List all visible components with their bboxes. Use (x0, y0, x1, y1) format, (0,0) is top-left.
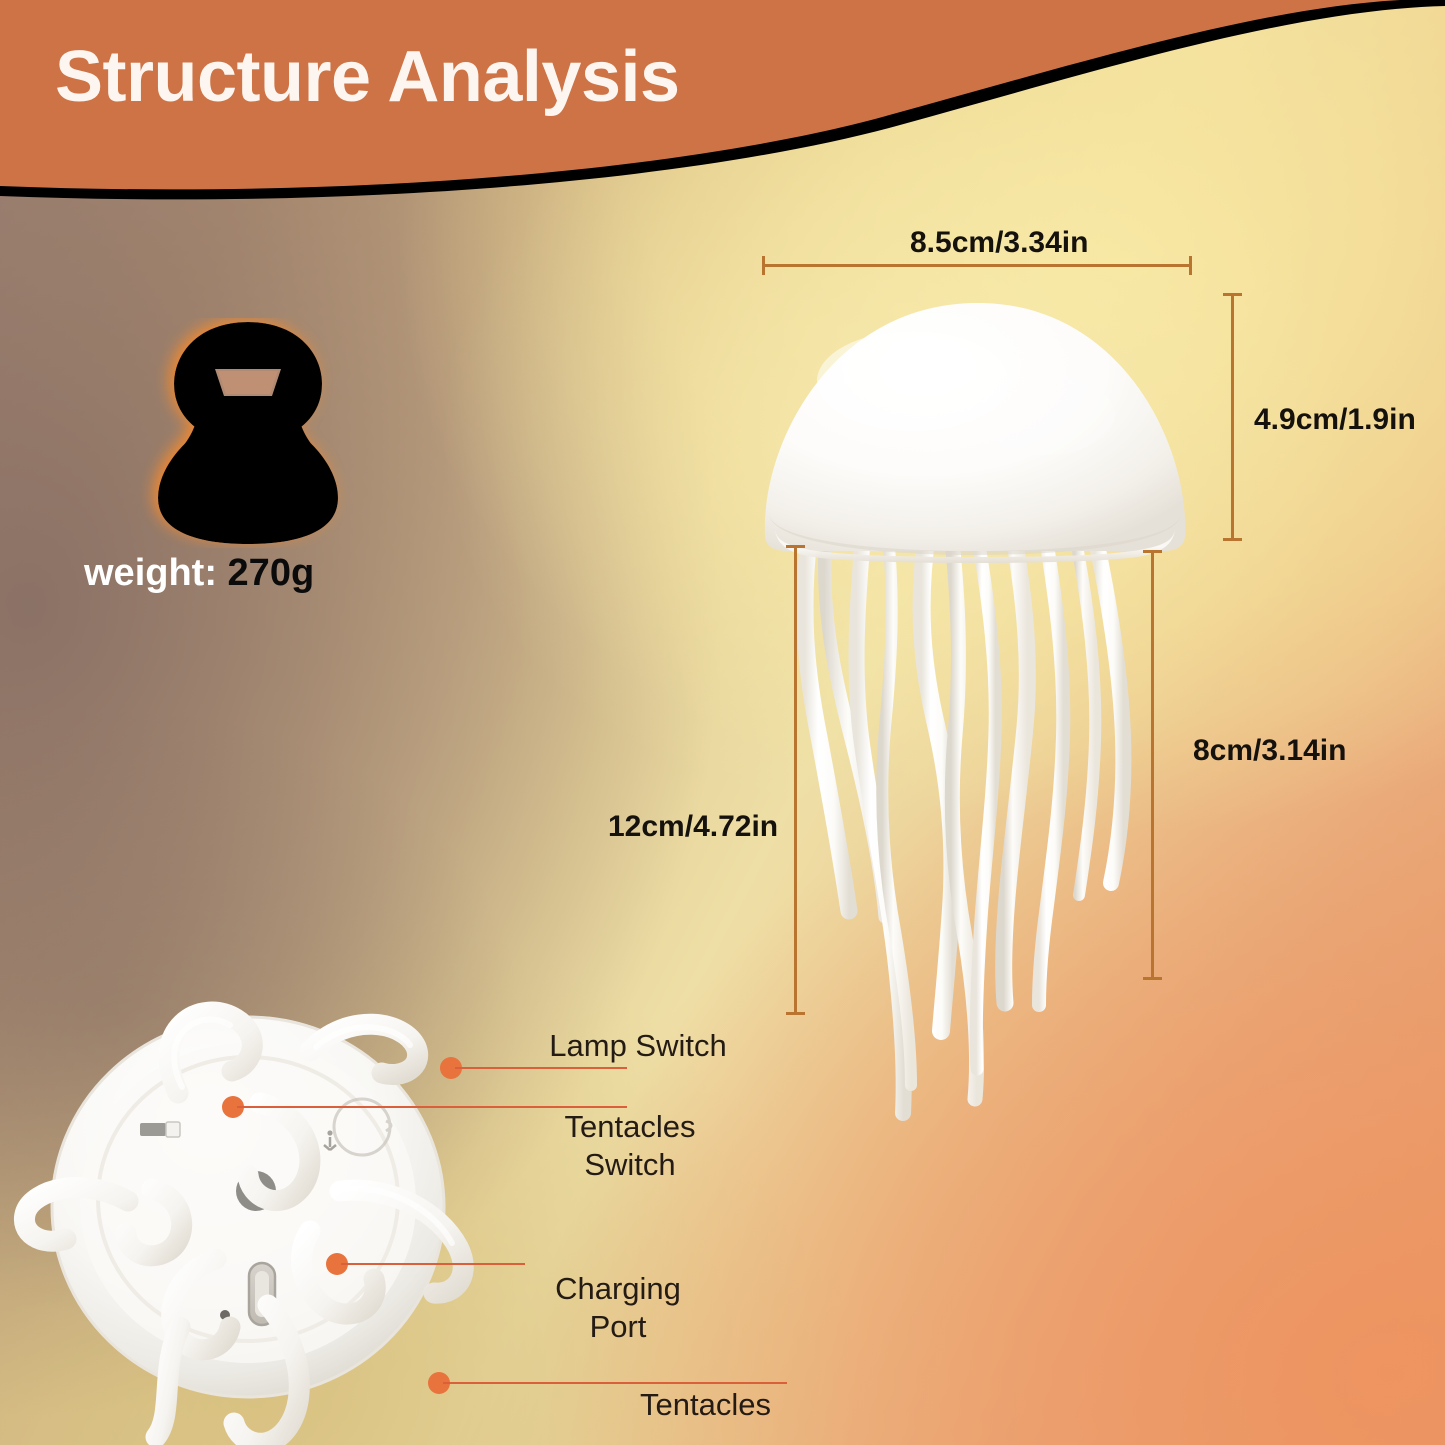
dimension-label-tentacle-right: 8cm/3.14in (1193, 734, 1346, 768)
lamp-dome (765, 303, 1185, 563)
callout-label-tentacles-switch: Tentacles Switch (540, 1108, 720, 1184)
weight-label: weight: 270g (84, 552, 314, 595)
callout-line-lamp-switch (455, 1067, 627, 1069)
callout-label-charging-port: Charging Port (528, 1270, 708, 1346)
jellyfish-lamp (745, 285, 1205, 1155)
callout-line-charging-port (341, 1263, 525, 1265)
lamp-tentacles-group (805, 531, 1123, 1113)
dimension-label-tentacle-left: 12cm/4.72in (608, 810, 778, 844)
page-title: Structure Analysis (55, 36, 680, 118)
dimension-line-dome-width (762, 264, 1192, 267)
dimension-line-dome-height (1231, 293, 1234, 541)
callout-label-lamp-switch: Lamp Switch (540, 1027, 736, 1065)
weight-value: 270g (228, 552, 315, 594)
callout-line-tentacles (443, 1382, 787, 1384)
weight-key: weight: (84, 552, 217, 594)
dimension-line-tentacle-right (1151, 550, 1154, 980)
dimension-line-tentacle-left (794, 545, 797, 1015)
kettlebell-icon (128, 318, 368, 548)
callout-label-tentacles: Tentacles (640, 1386, 820, 1424)
dimension-label-dome-height: 4.9cm/1.9in (1254, 403, 1416, 437)
infographic-canvas: 8.5cm/3.34in 4.9cm/1.9in 8cm/3.14in 12cm… (0, 0, 1445, 1445)
